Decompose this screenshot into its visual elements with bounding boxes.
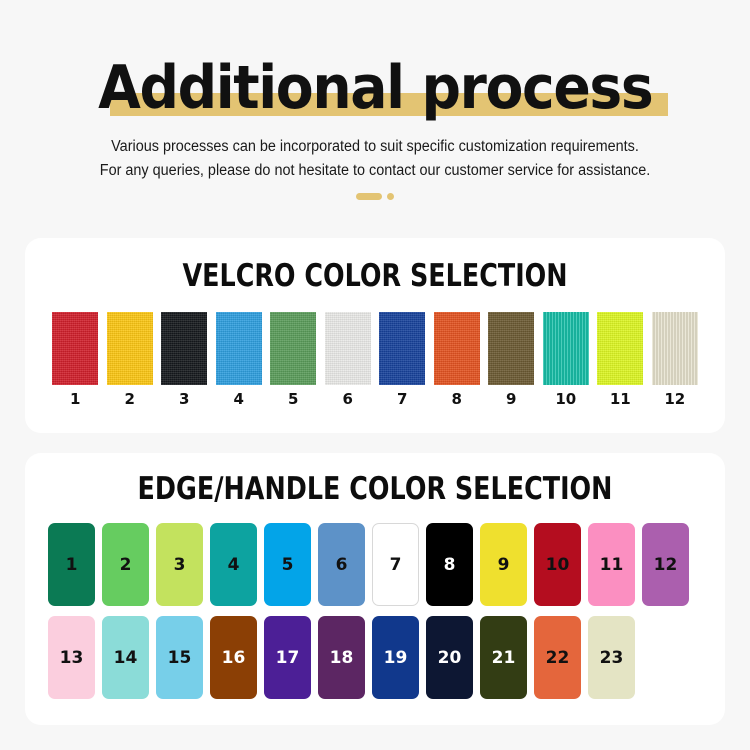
page-subtitle-line1: Various processes can be incorporated to… bbox=[26, 136, 724, 158]
velcro-swatch-number: 2 bbox=[125, 390, 135, 408]
velcro-swatch-cell[interactable]: 4 bbox=[212, 312, 267, 408]
page-root: Additional process Various processes can… bbox=[0, 0, 750, 750]
edge-swatch-dark-green[interactable]: 1 bbox=[48, 523, 95, 606]
velcro-swatch-cell[interactable]: 10 bbox=[539, 312, 594, 408]
dot-small-icon bbox=[387, 193, 394, 200]
edge-swatch-navy-blue[interactable]: 19 bbox=[372, 616, 419, 699]
velcro-swatch-black[interactable] bbox=[161, 312, 207, 385]
velcro-swatch-number: 5 bbox=[288, 390, 298, 408]
edge-swatch-grid: 1234567891011121314151617181920212223 bbox=[48, 523, 702, 699]
velcro-swatch-red[interactable] bbox=[52, 312, 98, 385]
edge-swatch-light-pink[interactable]: 13 bbox=[48, 616, 95, 699]
edge-swatch-yellow[interactable]: 9 bbox=[480, 523, 527, 606]
velcro-section-title: VELCRO COLOR SELECTION bbox=[88, 238, 662, 294]
edge-swatch-steel-blue[interactable]: 6 bbox=[318, 523, 365, 606]
velcro-swatch-number: 11 bbox=[610, 390, 631, 408]
velcro-swatch-number: 9 bbox=[506, 390, 516, 408]
decorative-dots bbox=[0, 193, 750, 200]
edge-handle-color-card: EDGE/HANDLE COLOR SELECTION 123456789101… bbox=[25, 453, 725, 725]
edge-swatch-white[interactable]: 7 bbox=[372, 523, 419, 606]
velcro-swatch-cell[interactable]: 5 bbox=[266, 312, 321, 408]
edge-swatch-azure[interactable]: 5 bbox=[264, 523, 311, 606]
velcro-swatch-cell[interactable]: 8 bbox=[430, 312, 485, 408]
velcro-swatch-white[interactable] bbox=[325, 312, 371, 385]
velcro-swatch-orange[interactable] bbox=[434, 312, 480, 385]
velcro-swatch-turquoise[interactable] bbox=[543, 312, 589, 385]
velcro-swatch-cell[interactable]: 11 bbox=[593, 312, 648, 408]
page-subtitle-line2: For any queries, please do not hesitate … bbox=[26, 160, 724, 182]
velcro-swatch-beige[interactable] bbox=[652, 312, 698, 385]
velcro-swatch-green[interactable] bbox=[270, 312, 316, 385]
velcro-swatch-cell[interactable]: 2 bbox=[103, 312, 158, 408]
edge-swatch-black[interactable]: 8 bbox=[426, 523, 473, 606]
page-title: Additional process bbox=[98, 58, 652, 118]
velcro-swatch-cell[interactable]: 6 bbox=[321, 312, 376, 408]
velcro-swatch-number: 1 bbox=[70, 390, 80, 408]
velcro-swatch-cell[interactable]: 12 bbox=[648, 312, 703, 408]
edge-swatch-aqua[interactable]: 14 bbox=[102, 616, 149, 699]
velcro-swatch-number: 6 bbox=[343, 390, 353, 408]
edge-swatch-pink[interactable]: 11 bbox=[588, 523, 635, 606]
velcro-swatch-yellow[interactable] bbox=[107, 312, 153, 385]
edge-section-title: EDGE/HANDLE COLOR SELECTION bbox=[88, 453, 662, 507]
velcro-swatch-neon-yellow[interactable] bbox=[597, 312, 643, 385]
velcro-swatch-number: 4 bbox=[234, 390, 244, 408]
page-header: Additional process Various processes can… bbox=[0, 0, 750, 200]
edge-swatch-olive[interactable]: 21 bbox=[480, 616, 527, 699]
edge-swatch-coral[interactable]: 22 bbox=[534, 616, 581, 699]
edge-swatch-light-blue[interactable]: 15 bbox=[156, 616, 203, 699]
edge-swatch-midnight-navy[interactable]: 20 bbox=[426, 616, 473, 699]
velcro-swatch-number: 10 bbox=[555, 390, 576, 408]
edge-swatch-violet[interactable]: 17 bbox=[264, 616, 311, 699]
edge-swatch-lime[interactable]: 3 bbox=[156, 523, 203, 606]
velcro-swatch-cell[interactable]: 9 bbox=[484, 312, 539, 408]
velcro-swatch-royal-blue[interactable] bbox=[379, 312, 425, 385]
edge-swatch-row: 1314151617181920212223 bbox=[48, 616, 702, 699]
velcro-swatch-strip: 123456789101112 bbox=[48, 312, 702, 408]
edge-swatch-teal[interactable]: 4 bbox=[210, 523, 257, 606]
velcro-swatch-number: 12 bbox=[664, 390, 685, 408]
velcro-swatch-number: 8 bbox=[452, 390, 462, 408]
velcro-swatch-brown[interactable] bbox=[488, 312, 534, 385]
edge-swatch-crimson[interactable]: 10 bbox=[534, 523, 581, 606]
dot-pill-icon bbox=[356, 193, 382, 200]
velcro-swatch-sky-blue[interactable] bbox=[216, 312, 262, 385]
edge-swatch-brown[interactable]: 16 bbox=[210, 616, 257, 699]
page-title-wrap: Additional process bbox=[74, 58, 676, 118]
edge-swatch-orchid[interactable]: 12 bbox=[642, 523, 689, 606]
velcro-swatch-number: 7 bbox=[397, 390, 407, 408]
velcro-swatch-number: 3 bbox=[179, 390, 189, 408]
edge-swatch-light-green[interactable]: 2 bbox=[102, 523, 149, 606]
edge-swatch-cream[interactable]: 23 bbox=[588, 616, 635, 699]
velcro-swatch-cell[interactable]: 7 bbox=[375, 312, 430, 408]
edge-swatch-row: 123456789101112 bbox=[48, 523, 702, 606]
velcro-swatch-cell[interactable]: 1 bbox=[48, 312, 103, 408]
velcro-color-card: VELCRO COLOR SELECTION 123456789101112 bbox=[25, 238, 725, 433]
velcro-swatch-cell[interactable]: 3 bbox=[157, 312, 212, 408]
edge-swatch-plum[interactable]: 18 bbox=[318, 616, 365, 699]
